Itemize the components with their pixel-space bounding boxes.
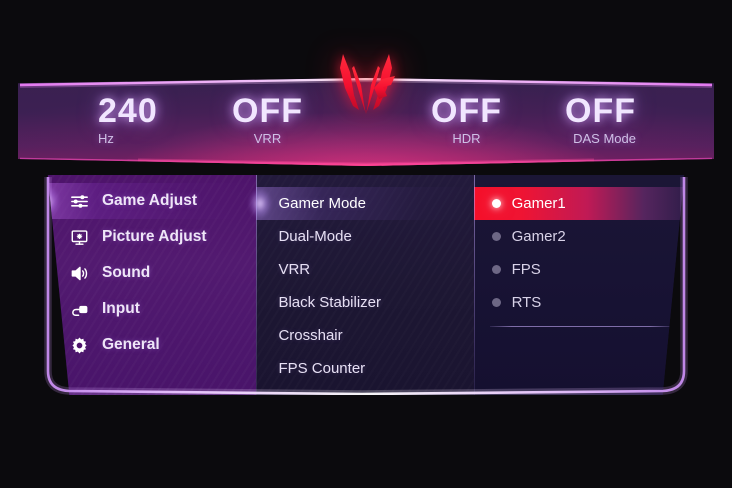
- submenu-item-gamer-mode[interactable]: Gamer Mode: [256, 187, 473, 220]
- gear-icon: [70, 336, 89, 355]
- sidebar-item-label: Picture Adjust: [102, 228, 207, 246]
- option-item-label: Gamer1: [512, 195, 566, 212]
- submenu-item-vrr[interactable]: VRR: [256, 253, 473, 286]
- submenu-item-label: VRR: [278, 261, 310, 278]
- sidebar-item-label: Sound: [102, 264, 150, 282]
- sidebar-item-label: Game Adjust: [102, 192, 197, 210]
- radio-icon: [492, 232, 501, 241]
- option-item-rts[interactable]: RTS: [474, 286, 692, 319]
- metric-value: OFF: [211, 94, 324, 129]
- column-divider-2: [474, 175, 475, 395]
- metric-label: DAS Mode: [523, 131, 636, 146]
- option-item-label: Gamer2: [512, 228, 566, 245]
- metric-label: HDR: [410, 131, 523, 146]
- osd-menu-panel: Game Adjust Picture Adjust: [40, 175, 692, 395]
- sidebar-item-label: General: [102, 336, 160, 354]
- monitor-icon: [70, 228, 89, 247]
- sliders-icon: [70, 192, 89, 211]
- submenu-list: Gamer Mode Dual-Mode VRR Black Stabilize…: [256, 187, 473, 385]
- radio-icon: [492, 265, 501, 274]
- status-metric-das-mode: OFF DAS Mode: [523, 94, 680, 145]
- option-item-label: RTS: [512, 294, 542, 311]
- metric-value: 240: [98, 94, 211, 129]
- options-panel: Gamer1 Gamer2 FPS RTS: [474, 175, 692, 395]
- sidebar: Game Adjust Picture Adjust: [40, 175, 256, 395]
- column-divider-1: [256, 175, 257, 395]
- status-metrics: 240 Hz OFF VRR OFF HDR OFF DAS Mode: [18, 78, 714, 166]
- metric-value: OFF: [410, 94, 523, 129]
- metric-label: Hz: [98, 131, 211, 146]
- metric-value: OFF: [523, 94, 636, 129]
- option-item-fps[interactable]: FPS: [474, 253, 692, 286]
- submenu-item-crosshair[interactable]: Crosshair: [256, 319, 473, 352]
- option-item-gamer1[interactable]: Gamer1: [474, 187, 692, 220]
- radio-icon: [492, 199, 501, 208]
- submenu-item-label: Gamer Mode: [278, 195, 366, 212]
- status-metric-hz: 240 Hz: [52, 94, 211, 145]
- sidebar-item-general[interactable]: General: [40, 327, 256, 363]
- sidebar-item-sound[interactable]: Sound: [40, 255, 256, 291]
- status-bar: 240 Hz OFF VRR OFF HDR OFF DAS Mode: [18, 78, 714, 166]
- submenu-item-label: FPS Counter: [278, 360, 365, 377]
- status-metric-hdr: OFF HDR: [370, 94, 523, 145]
- options-divider: [490, 326, 672, 327]
- sidebar-item-label: Input: [102, 300, 140, 318]
- submenu: Gamer Mode Dual-Mode VRR Black Stabilize…: [256, 175, 473, 395]
- submenu-item-black-stabilizer[interactable]: Black Stabilizer: [256, 286, 473, 319]
- plug-icon: [70, 300, 89, 319]
- submenu-item-label: Dual-Mode: [278, 228, 351, 245]
- submenu-item-dual-mode[interactable]: Dual-Mode: [256, 220, 473, 253]
- options-list: Gamer1 Gamer2 FPS RTS: [474, 187, 692, 333]
- sidebar-list: Game Adjust Picture Adjust: [40, 183, 256, 363]
- option-item-label: FPS: [512, 261, 541, 278]
- osd-screen: 240 Hz OFF VRR OFF HDR OFF DAS Mode: [0, 0, 732, 488]
- radio-icon: [492, 298, 501, 307]
- submenu-item-fps-counter[interactable]: FPS Counter: [256, 352, 473, 385]
- status-metric-vrr: OFF VRR: [211, 94, 370, 145]
- option-item-gamer2[interactable]: Gamer2: [474, 220, 692, 253]
- sidebar-item-input[interactable]: Input: [40, 291, 256, 327]
- sidebar-item-game-adjust[interactable]: Game Adjust: [40, 183, 256, 219]
- speaker-icon: [70, 264, 89, 283]
- metric-label: VRR: [211, 131, 324, 146]
- submenu-item-label: Black Stabilizer: [278, 294, 381, 311]
- submenu-item-label: Crosshair: [278, 327, 342, 344]
- sidebar-item-picture-adjust[interactable]: Picture Adjust: [40, 219, 256, 255]
